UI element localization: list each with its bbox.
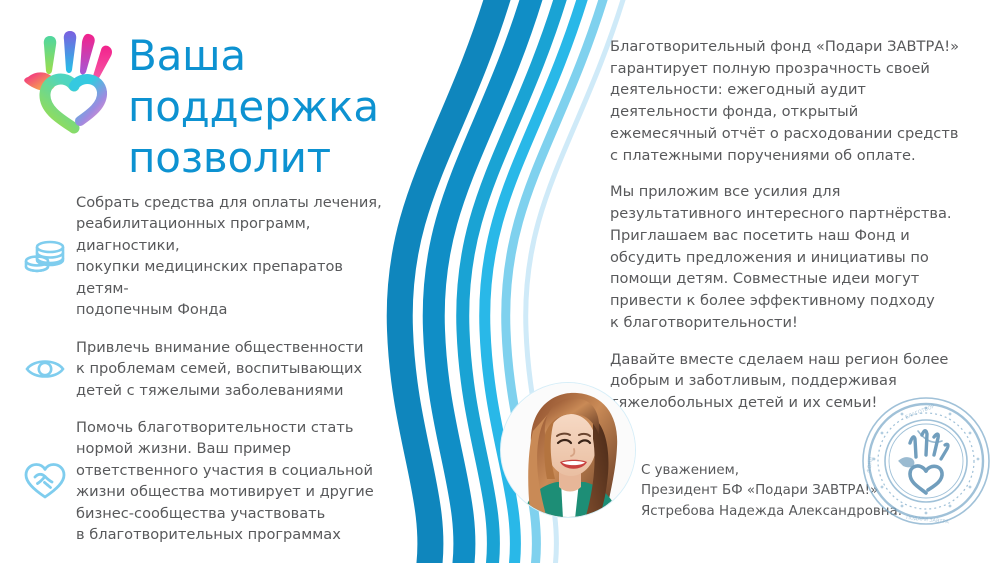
page-title-line-1: Ваша xyxy=(128,30,398,81)
poster-canvas: Ваша поддержка позволит С xyxy=(0,0,1000,563)
letter-paragraph-2: Мы приложим все усилия для результативно… xyxy=(610,181,978,333)
list-item: Помочь благотворительности стать нормой … xyxy=(14,417,394,546)
page-title: Ваша поддержка позволит xyxy=(128,30,398,184)
list-item: Привлечь внимание общественности к пробл… xyxy=(14,337,394,401)
svg-text:ФОНД: ФОНД xyxy=(866,457,875,474)
page-title-line-2: поддержка xyxy=(128,81,398,132)
benefits-list: Собрать средства для оплаты лечения, реа… xyxy=(14,192,394,562)
heart-handshake-icon xyxy=(14,461,76,501)
list-item-label: Собрать средства для оплаты лечения, реа… xyxy=(76,192,394,321)
letter-paragraph-1: Благотворительный фонд «Подари ЗАВТРА!» … xyxy=(610,36,978,166)
avatar xyxy=(500,382,636,518)
letter-body: Благотворительный фонд «Подари ЗАВТРА!» … xyxy=(610,36,978,414)
list-item: Собрать средства для оплаты лечения, реа… xyxy=(14,192,394,321)
list-item-label: Привлечь внимание общественности к пробл… xyxy=(76,337,394,401)
list-item-label: Помочь благотворительности стать нормой … xyxy=(76,417,394,546)
coins-icon xyxy=(14,238,76,274)
page-title-line-3: позволит xyxy=(128,132,398,183)
eye-icon xyxy=(14,354,76,384)
official-stamp: БЛАГОТВОР ФОНД ПОДАРИ ЗАВТРА xyxy=(860,395,992,527)
hand-heart-logo xyxy=(18,26,124,134)
